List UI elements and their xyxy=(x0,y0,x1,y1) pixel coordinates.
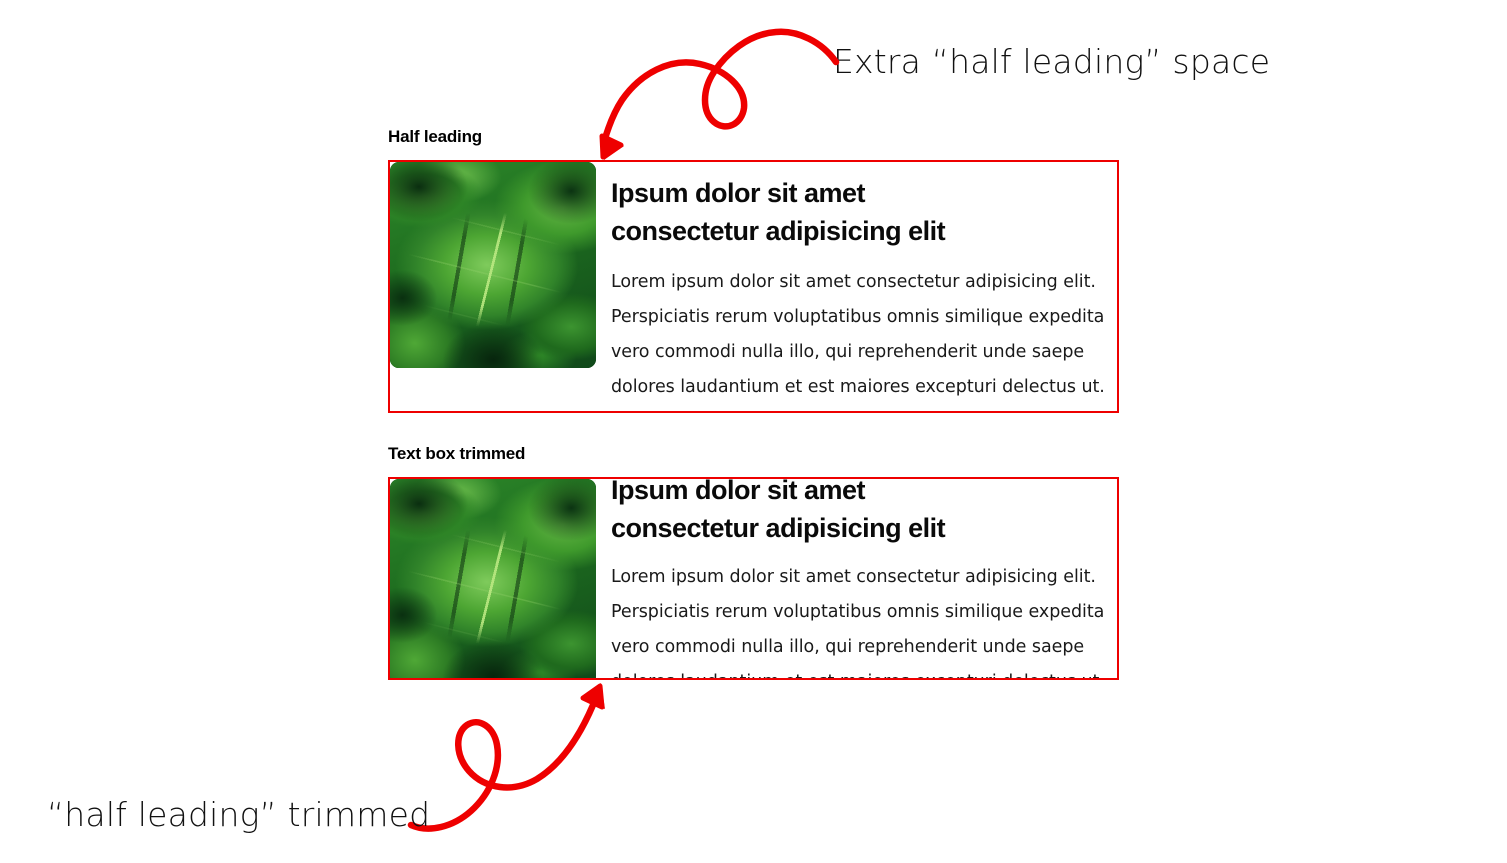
card-paragraph-line: vero commodi nulla illo, qui reprehender… xyxy=(611,335,1117,370)
card-paragraph-line: Lorem ipsum dolor sit amet consectetur a… xyxy=(611,560,1117,595)
card-paragraph-line: dolores laudantium et est maiores except… xyxy=(611,665,1117,680)
monstera-leaves-photo xyxy=(390,479,596,680)
card-paragraph-line: vero commodi nulla illo, qui reprehender… xyxy=(611,630,1117,665)
card-title-text-box-trimmed: Ipsum dolor sit amet consectetur adipisi… xyxy=(611,477,1117,548)
card-paragraph-line: dolores laudantium et est maiores except… xyxy=(611,370,1117,405)
card-title-half-leading: Ipsum dolor sit amet consectetur adipisi… xyxy=(611,162,1117,251)
curly-arrow-up-right-icon xyxy=(405,675,655,835)
section-label-half-leading: Half leading xyxy=(388,128,1119,145)
card-body-text-box-trimmed: Ipsum dolor sit amet consectetur adipisi… xyxy=(596,479,1117,680)
card-paragraph-line: Lorem ipsum dolor sit amet consectetur a… xyxy=(611,265,1117,300)
section-half-leading: Half leading Ipsum dolor sit amet consec… xyxy=(388,128,1119,413)
card-image-half-leading xyxy=(390,162,596,368)
card-paragraph-text-box-trimmed: Lorem ipsum dolor sit amet consectetur a… xyxy=(611,548,1117,680)
annotation-label-half-leading-trimmed: “half leading” trimmed xyxy=(47,795,430,834)
card-title-line: Ipsum dolor sit amet xyxy=(611,174,1117,212)
section-label-text-box-trimmed: Text box trimmed xyxy=(388,445,1119,462)
card-image-text-box-trimmed xyxy=(390,479,596,680)
card-title-line: consectetur adipisicing elit xyxy=(611,509,1117,547)
card-title-line: consectetur adipisicing elit xyxy=(611,212,1117,250)
monstera-leaves-photo xyxy=(390,162,596,368)
card-title-line: Ipsum dolor sit amet xyxy=(611,477,1117,509)
card-paragraph-line: Perspiciatis rerum voluptatibus omnis si… xyxy=(611,595,1117,630)
card-paragraph-half-leading: Lorem ipsum dolor sit amet consectetur a… xyxy=(611,251,1117,411)
annotation-label-extra-half-leading: Extra “half leading” space xyxy=(833,42,1270,81)
card-paragraph-line: Perspiciatis rerum voluptatibus omnis si… xyxy=(611,300,1117,335)
section-text-box-trimmed: Text box trimmed Ipsum dolor sit amet co… xyxy=(388,445,1119,680)
card-body-half-leading: Ipsum dolor sit amet consectetur adipisi… xyxy=(596,162,1117,411)
card-half-leading: Ipsum dolor sit amet consectetur adipisi… xyxy=(388,160,1119,413)
card-text-box-trimmed: Ipsum dolor sit amet consectetur adipisi… xyxy=(388,477,1119,680)
